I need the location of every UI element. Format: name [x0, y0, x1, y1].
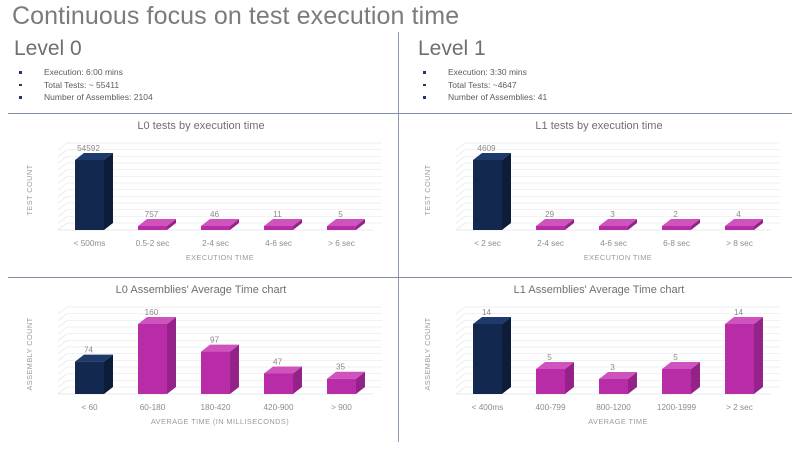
bar-value-label: 46 [210, 210, 220, 219]
bar [662, 362, 700, 394]
x-tick-label: < 60 [81, 403, 98, 412]
chart-title: L0 Assemblies' Average Time chart [6, 284, 396, 296]
horizontal-divider-top [8, 113, 792, 114]
y-axis-title: ASSEMBLY COUNT [423, 317, 432, 390]
bar-value-label: 11 [273, 210, 282, 219]
x-tick-label: 6-8 sec [663, 239, 690, 248]
bar [138, 219, 176, 230]
bar-value-label: 3 [610, 210, 615, 219]
chart-l0-tests-by-execution-time[interactable]: L0 tests by execution time 54592< 500ms7… [6, 118, 396, 274]
bar-value-label: 757 [145, 210, 159, 219]
bullet-text: Number of Assemblies: 2104 [44, 92, 153, 102]
bar [662, 219, 700, 230]
level-0-heading: Level 0 [14, 36, 153, 62]
bullet-text: Total Tests: ~4647 [448, 80, 517, 90]
x-tick-label: 2-4 sec [202, 239, 229, 248]
bar-value-label: 3 [610, 363, 615, 372]
chart-plot-area[interactable]: 14< 400ms5400-7993800-120051200-199914> … [404, 296, 794, 430]
bar-value-label: 35 [336, 363, 346, 372]
chart-plot-area[interactable]: 4609< 2 sec292-4 sec34-6 sec26-8 sec4> 8… [404, 132, 794, 266]
bar-value-label: 97 [210, 336, 220, 345]
bar-value-label: 74 [84, 346, 94, 355]
bullet-square-icon [423, 71, 426, 74]
x-tick-label: 800-1200 [596, 403, 631, 412]
bar-value-label: 47 [273, 357, 283, 366]
chart-l0-assemblies-average-time[interactable]: L0 Assemblies' Average Time chart 74< 60… [6, 282, 396, 444]
bar [75, 153, 113, 230]
bullet-text: Total Tests: ~ 55411 [44, 80, 119, 90]
level-0-bullet-list: Execution: 6:00 mins Total Tests: ~ 5541… [14, 66, 153, 104]
bar [264, 366, 302, 394]
bar-value-label: 5 [673, 353, 678, 362]
x-tick-label: < 400ms [472, 403, 504, 412]
list-item: Number of Assemblies: 41 [418, 91, 547, 104]
list-item: Execution: 3:30 mins [418, 66, 547, 79]
vertical-divider [398, 32, 399, 442]
bar-value-label: 5 [547, 353, 552, 362]
list-item: Number of Assemblies: 2104 [14, 91, 153, 104]
x-tick-label: 4-6 sec [600, 239, 627, 248]
chart-title: L1 Assemblies' Average Time chart [404, 284, 794, 296]
bar [264, 219, 302, 230]
level-1-block: Level 1 Execution: 3:30 mins Total Tests… [418, 36, 547, 104]
bar-value-label: 29 [545, 210, 555, 219]
chart-plot-area[interactable]: 54592< 500ms7570.5-2 sec462-4 sec114-6 s… [6, 132, 396, 266]
y-axis-title: ASSEMBLY COUNT [25, 317, 34, 390]
x-tick-label: 2-4 sec [537, 239, 564, 248]
bar-value-label: 14 [482, 308, 492, 317]
x-tick-label: < 2 sec [474, 239, 501, 248]
chart-l1-assemblies-average-time[interactable]: L1 Assemblies' Average Time chart 14< 40… [404, 282, 794, 444]
x-axis-title: AVERAGE TIME (IN MILLISECONDS) [151, 417, 289, 426]
bullet-square-icon [423, 84, 426, 87]
bar [201, 345, 239, 394]
bar [473, 153, 511, 230]
x-tick-label: < 500ms [74, 239, 106, 248]
x-tick-label: 400-799 [535, 403, 565, 412]
bar-value-label: 2 [673, 210, 678, 219]
bullet-text: Execution: 3:30 mins [448, 67, 527, 77]
bar [75, 355, 113, 394]
bar-value-label: 5 [338, 210, 343, 219]
bar [327, 219, 365, 230]
page-title: Continuous focus on test execution time [12, 2, 459, 31]
y-axis-title: TEST COUNT [423, 164, 432, 215]
x-tick-label: > 8 sec [726, 239, 753, 248]
bar-value-label: 4 [736, 210, 741, 219]
bar-value-label: 54592 [77, 144, 100, 153]
bar [725, 219, 763, 230]
bar [599, 219, 637, 230]
bar [327, 372, 365, 394]
bullet-square-icon [19, 71, 22, 74]
chart-title: L1 tests by execution time [404, 120, 794, 132]
bar-value-label: 14 [734, 308, 744, 317]
bullet-text: Number of Assemblies: 41 [448, 92, 547, 102]
bullet-square-icon [423, 96, 426, 99]
x-axis-title: EXECUTION TIME [186, 253, 254, 262]
bullet-square-icon [19, 84, 22, 87]
chart-title: L0 tests by execution time [6, 120, 396, 132]
level-1-bullet-list: Execution: 3:30 mins Total Tests: ~4647 … [418, 66, 547, 104]
x-tick-label: 420-900 [263, 403, 293, 412]
list-item: Total Tests: ~4647 [418, 79, 547, 92]
level-1-heading: Level 1 [418, 36, 547, 62]
bullet-square-icon [19, 96, 22, 99]
x-tick-label: 1200-1999 [657, 403, 697, 412]
x-axis-title: EXECUTION TIME [584, 253, 652, 262]
x-tick-label: 0.5-2 sec [136, 239, 170, 248]
x-tick-label: > 6 sec [328, 239, 355, 248]
horizontal-divider-mid [8, 277, 792, 278]
x-axis-title: AVERAGE TIME [588, 417, 648, 426]
slide-canvas: Continuous focus on test execution time … [0, 0, 800, 450]
bar [725, 317, 763, 394]
list-item: Execution: 6:00 mins [14, 66, 153, 79]
chart-plot-area[interactable]: 74< 6016060-18097180-42047420-90035> 900… [6, 296, 396, 430]
bar [599, 372, 637, 394]
bar-value-label: 160 [145, 308, 159, 317]
bar [536, 219, 574, 230]
x-tick-label: > 900 [331, 403, 352, 412]
bar [536, 362, 574, 394]
list-item: Total Tests: ~ 55411 [14, 79, 153, 92]
x-tick-label: > 2 sec [726, 403, 753, 412]
bullet-text: Execution: 6:00 mins [44, 67, 123, 77]
bar [473, 317, 511, 394]
bar [201, 219, 239, 230]
x-tick-label: 60-180 [140, 403, 166, 412]
level-0-block: Level 0 Execution: 6:00 mins Total Tests… [14, 36, 153, 104]
bar-value-label: 4609 [477, 144, 496, 153]
y-axis-title: TEST COUNT [25, 164, 34, 215]
chart-l1-tests-by-execution-time[interactable]: L1 tests by execution time 4609< 2 sec29… [404, 118, 794, 274]
x-tick-label: 4-6 sec [265, 239, 292, 248]
bar [138, 317, 176, 394]
x-tick-label: 180-420 [200, 403, 230, 412]
